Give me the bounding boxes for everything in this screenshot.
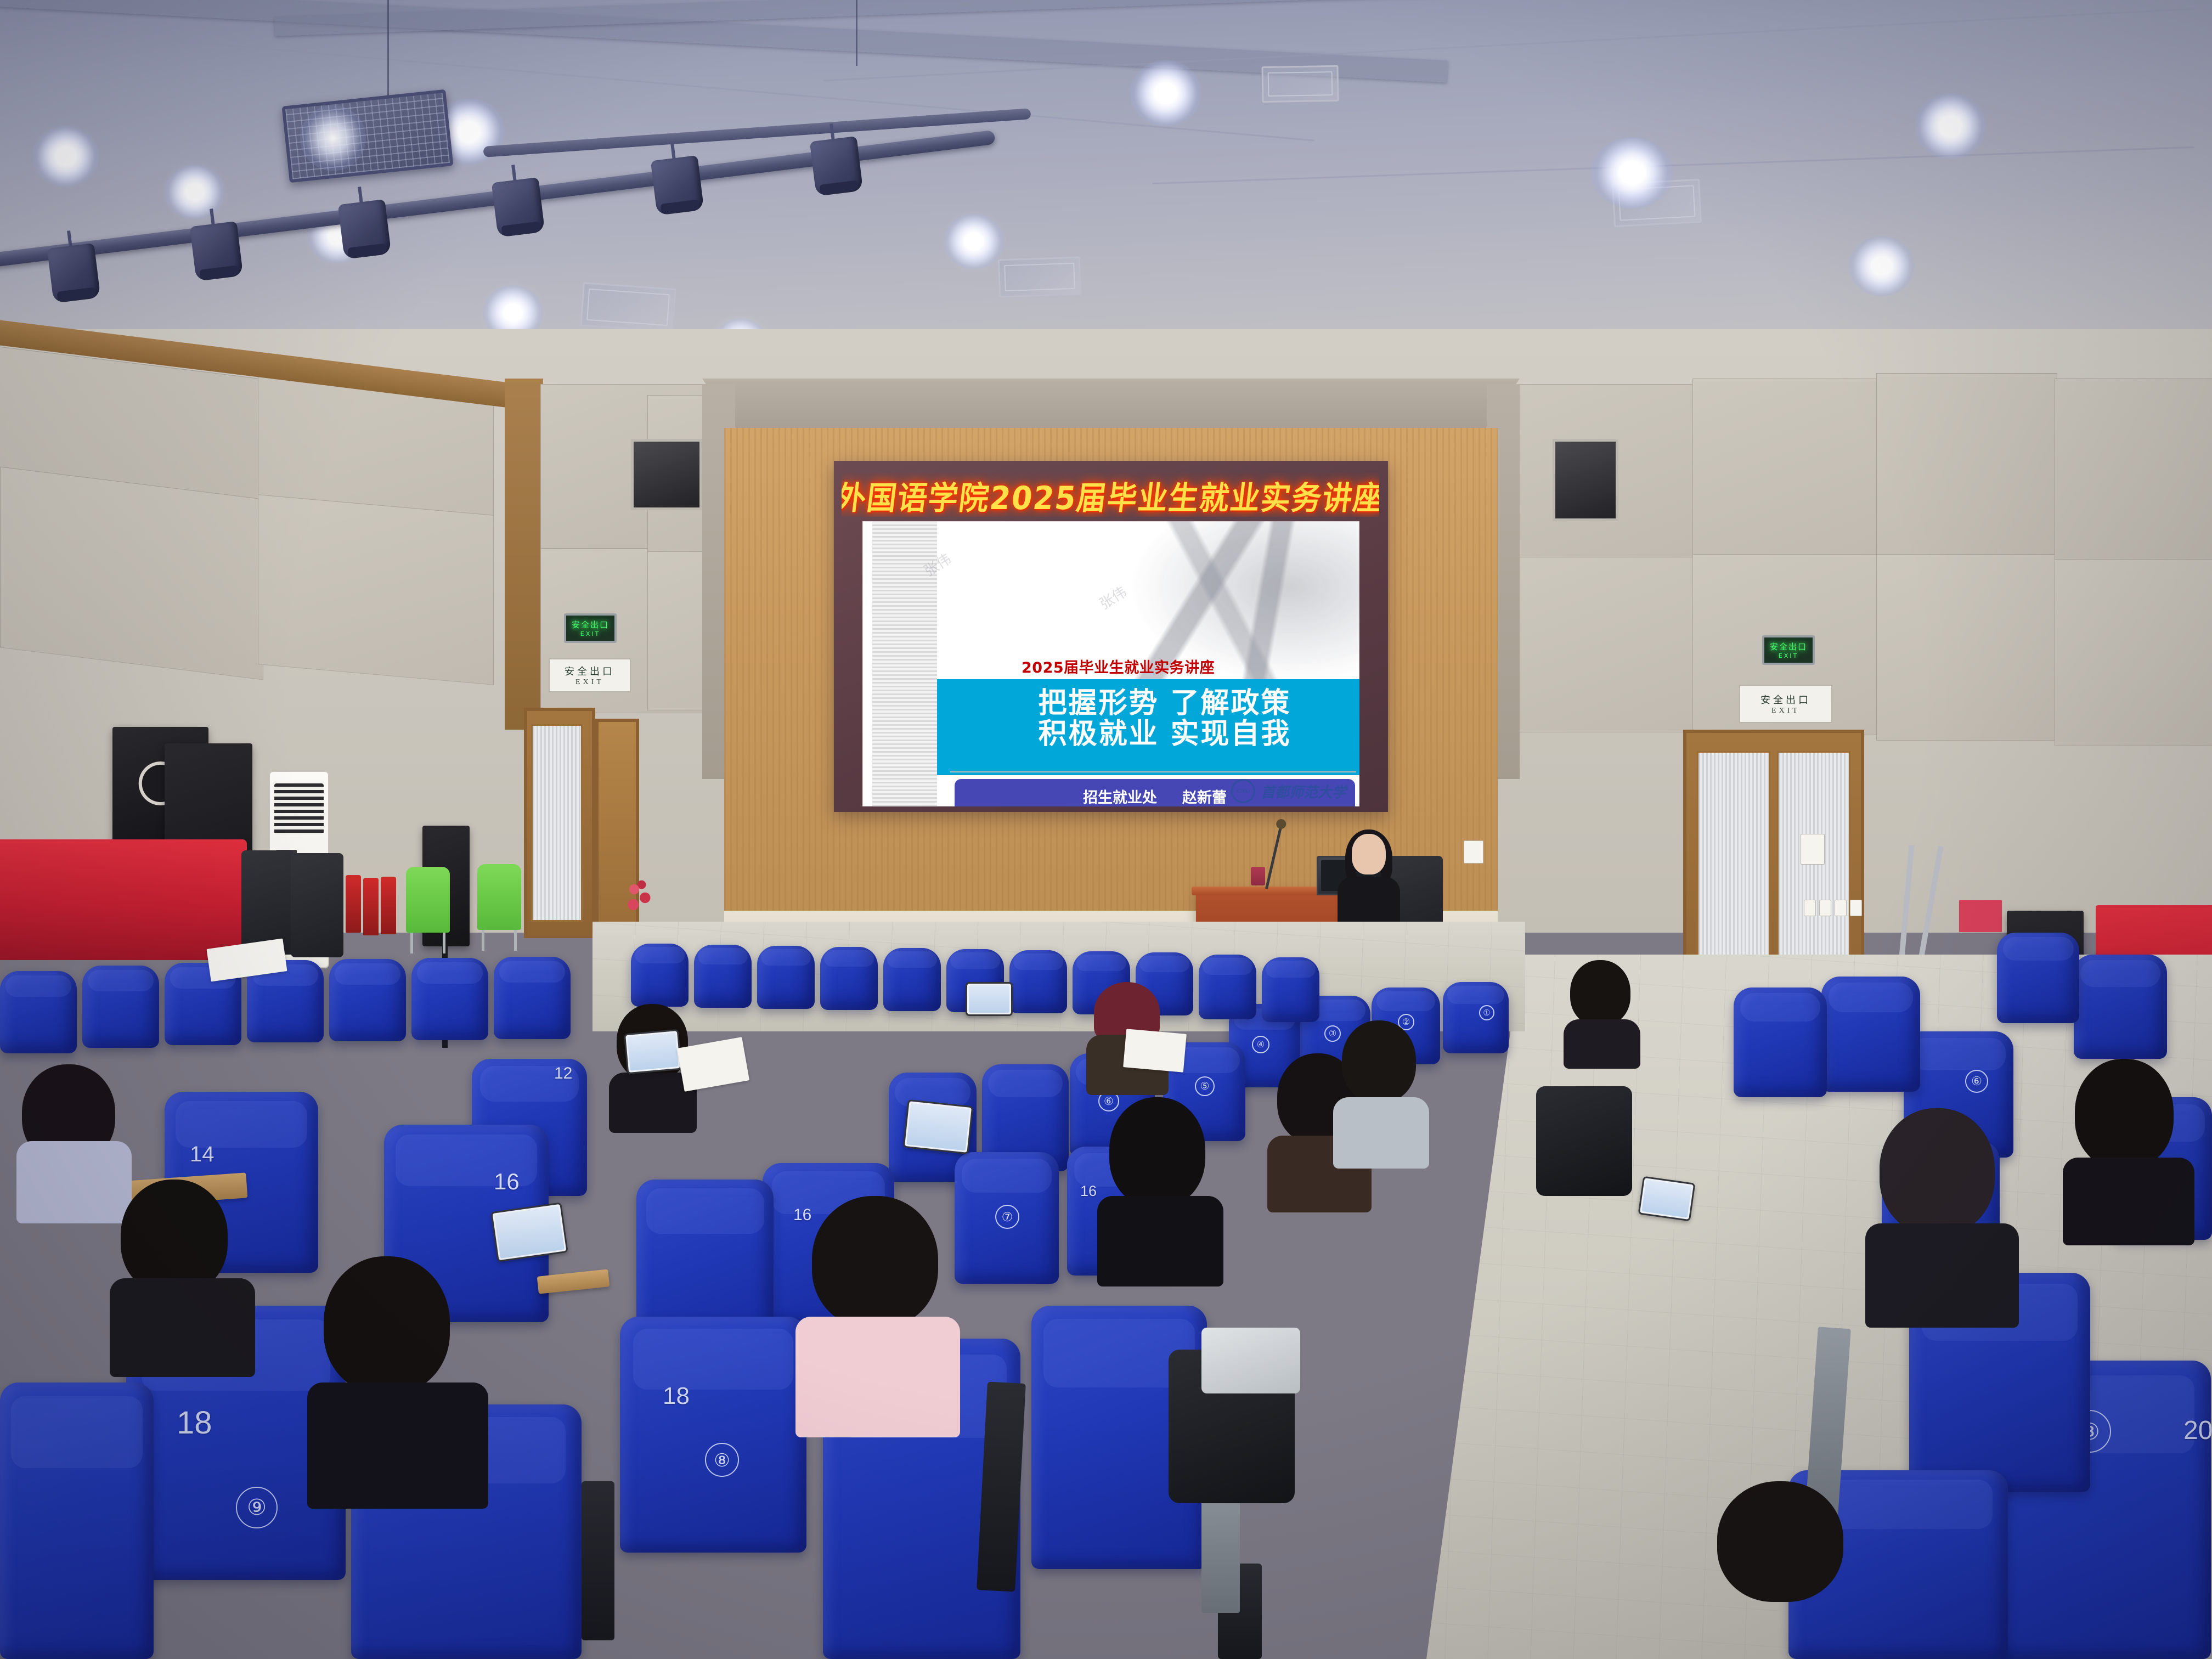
wall-panel: [0, 467, 263, 680]
exit-plate-cn: 安全出口: [565, 664, 615, 678]
person-head: [812, 1196, 938, 1328]
person-coat: [1333, 1097, 1429, 1169]
presenter: [1333, 834, 1404, 933]
stage-spotlight: [648, 140, 704, 217]
ceiling-air-vent: [1261, 65, 1339, 103]
stage-spotlight: [188, 206, 243, 283]
seat-row-number: 16: [1080, 1183, 1097, 1200]
auditorium-photo: 外国语学院2025届毕业生就业实务讲座 张伟 张伟 2025届毕业生就业实务讲座…: [0, 0, 2212, 1659]
person-head: [2075, 1059, 2174, 1169]
led-banner: 外国语学院2025届毕业生就业实务讲座: [842, 473, 1379, 517]
seat[interactable]: [0, 971, 77, 1053]
person-head: [121, 1180, 228, 1295]
notice-card: [1804, 900, 1816, 916]
seat[interactable]: [329, 959, 406, 1041]
seat[interactable]: [757, 946, 815, 1009]
lighting-hang-wire: [856, 0, 857, 66]
green-stool: [406, 867, 450, 933]
person-head: [324, 1256, 450, 1393]
slide-headline-line2: 积极就业 实现自我: [970, 719, 1359, 749]
smartphone[interactable]: [624, 1029, 682, 1074]
person-coat: [110, 1278, 255, 1377]
seat[interactable]: [1734, 988, 1827, 1097]
person-head: [1717, 1481, 1843, 1602]
wall-panel: [258, 494, 494, 685]
audience-member: [795, 1196, 960, 1426]
illuminated-exit-sign-right: 安全出口 EXIT: [1762, 635, 1815, 665]
seat-row-number: 20: [2183, 1415, 2212, 1446]
exit-sign-cn: 安全出口: [572, 619, 609, 630]
audience-member: [2063, 1059, 2194, 1240]
exit-plate-en: EXIT: [1771, 707, 1800, 715]
seat-row-number: 18: [663, 1383, 690, 1410]
wall-mounted-speaker: [1553, 439, 1618, 521]
wall-panel: [1692, 379, 1879, 560]
seat[interactable]: [883, 948, 941, 1011]
slide-stripe-sidebar: [872, 521, 937, 806]
audience-member: [1097, 1097, 1223, 1278]
wall-mounted-speaker: [631, 439, 702, 510]
ceiling-downlight: [1849, 236, 1915, 296]
seat-row-number: 12: [554, 1064, 572, 1083]
seat[interactable]: [694, 945, 752, 1008]
wall-panel: [1514, 557, 1695, 732]
fire-extinguisher: [381, 877, 396, 934]
seat[interactable]: 18 ⑧: [620, 1317, 806, 1553]
hall-chair: [291, 853, 343, 957]
person-head: [1880, 1108, 1995, 1234]
cnu-seal-icon: CNU: [1231, 779, 1255, 803]
exit-sign-en: EXIT: [580, 630, 600, 637]
side-door-left[interactable]: [524, 708, 595, 938]
seat[interactable]: [1199, 955, 1256, 1019]
smartphone[interactable]: [1638, 1176, 1696, 1222]
smartphone[interactable]: [903, 1099, 974, 1154]
drinking-cup: [1251, 867, 1265, 885]
stage-spotlight: [808, 121, 863, 198]
ac-grille-icon: [274, 783, 323, 834]
seat[interactable]: [1821, 977, 1920, 1092]
seat-armrest: [582, 1481, 614, 1640]
notice-sign: [1959, 900, 2002, 933]
ceiling-downlight: [1915, 93, 1986, 159]
seat[interactable]: [411, 958, 488, 1040]
slide-presenter-name: 赵新蕾: [1182, 786, 1227, 807]
seat-circled-number: ⑦: [995, 1205, 1019, 1229]
ceiling-air-vent: [580, 282, 676, 332]
wood-trim: [505, 379, 543, 730]
seat-circled-number: ⑥: [1965, 1070, 1988, 1093]
seat[interactable]: ⑦: [955, 1152, 1059, 1284]
person-coat: [307, 1383, 488, 1509]
red-decorative-plant: [614, 878, 664, 916]
seat[interactable]: [82, 966, 159, 1048]
seat[interactable]: [494, 957, 571, 1039]
no-smoking-sign: [1801, 834, 1825, 865]
exit-sign-cn: 安全出口: [1770, 641, 1807, 652]
presentation-slide: 张伟 张伟 2025届毕业生就业实务讲座 把握形势 了解政策 积极就业 实现自我…: [862, 521, 1359, 806]
ceiling-downlight: [1591, 137, 1673, 208]
exit-plate-cn: 安全出口: [1760, 692, 1811, 707]
seat[interactable]: [2074, 955, 2167, 1059]
seat-row-number: 16: [494, 1169, 520, 1195]
seat[interactable]: [1997, 933, 2079, 1023]
person-coat: [1865, 1223, 2019, 1328]
fire-extinguisher: [363, 878, 379, 935]
wall-switch-plate[interactable]: [1464, 840, 1483, 864]
stage-spotlight: [45, 228, 100, 304]
slide-headline-bar: 把握形势 了解政策 积极就业 实现自我: [937, 679, 1359, 775]
tote-bag: [1201, 1328, 1300, 1393]
ceiling-downlight: [33, 126, 99, 187]
person-coat: [1564, 1019, 1640, 1069]
person-coat: [1097, 1196, 1223, 1286]
wall-panel: [1876, 373, 2057, 560]
seat[interactable]: [820, 947, 878, 1010]
slide-presenter-org: 招生就业处: [1083, 786, 1157, 807]
seat-row-number: 14: [190, 1142, 215, 1167]
red-draped-table-left: [0, 839, 247, 960]
backpack: [1536, 1086, 1632, 1196]
green-stool: [477, 864, 521, 930]
seat[interactable]: [1262, 957, 1319, 1022]
illuminated-exit-sign-left: 安全出口 EXIT: [564, 613, 617, 643]
slide-headline-line1: 把握形势 了解政策: [970, 679, 1359, 719]
smartphone[interactable]: [966, 982, 1013, 1016]
person-coat: [795, 1317, 960, 1437]
seat[interactable]: ①: [1443, 982, 1509, 1053]
hall-chair: [241, 850, 294, 955]
slide-kicker: 2025届毕业生就业实务讲座: [1022, 656, 1215, 677]
exit-plate-en: EXIT: [575, 678, 604, 687]
slide-divider: [950, 771, 1356, 772]
lighting-hang-wire: [387, 0, 389, 99]
seat-circled-number: ⑨: [236, 1487, 278, 1528]
slide-university-logo: CNU 首都师范大学: [1231, 779, 1346, 803]
exit-plate-right: 安全出口 EXIT: [1739, 685, 1832, 723]
seat[interactable]: [0, 1383, 154, 1659]
audience-member: [1701, 1481, 1876, 1659]
door-glass-panel: [531, 724, 583, 921]
stage-spotlight: [336, 184, 391, 261]
seat-row-number: 18: [177, 1404, 212, 1441]
seat[interactable]: [1009, 950, 1067, 1013]
person-head: [1570, 960, 1630, 1026]
exit-plate-left: 安全出口 EXIT: [549, 658, 631, 692]
notice-card: [1835, 900, 1847, 916]
ceiling-downlight: [944, 214, 1004, 269]
slide-university-name: 首都师范大学: [1261, 781, 1346, 802]
wall-panel: [1876, 554, 2057, 741]
person-coat: [2063, 1158, 2194, 1245]
seat[interactable]: [631, 944, 689, 1007]
audience-member: [110, 1180, 252, 1366]
person-head: [1342, 1020, 1416, 1103]
wall-panel: [2055, 560, 2212, 746]
wall-panel: [2055, 379, 2212, 565]
led-banner-text: 外国语学院2025届毕业生就业实务讲座: [842, 473, 1379, 517]
audience-member: [1333, 1020, 1429, 1158]
notice-card: [1850, 900, 1862, 916]
audience-member: [1564, 960, 1640, 1059]
handout-paper[interactable]: [1123, 1029, 1187, 1072]
ceiling-air-vent: [998, 256, 1081, 297]
presenter-head: [1352, 834, 1386, 874]
person-head: [1109, 1097, 1205, 1207]
audience-member: [1865, 1108, 2019, 1317]
seat-circled-number: ①: [1479, 1005, 1494, 1020]
ceiling-downlight: [1130, 60, 1201, 126]
stage-spotlight: [489, 162, 545, 239]
seat-circled-number: ⑧: [705, 1443, 739, 1477]
exit-sign-en: EXIT: [1779, 652, 1798, 659]
smartphone[interactable]: [490, 1202, 568, 1262]
seat-circled-number: ④: [1252, 1036, 1269, 1053]
seat-circled-number: ⑤: [1195, 1076, 1215, 1096]
fire-extinguisher: [346, 875, 361, 933]
audience-member: [307, 1256, 488, 1498]
notice-card: [1819, 900, 1831, 916]
